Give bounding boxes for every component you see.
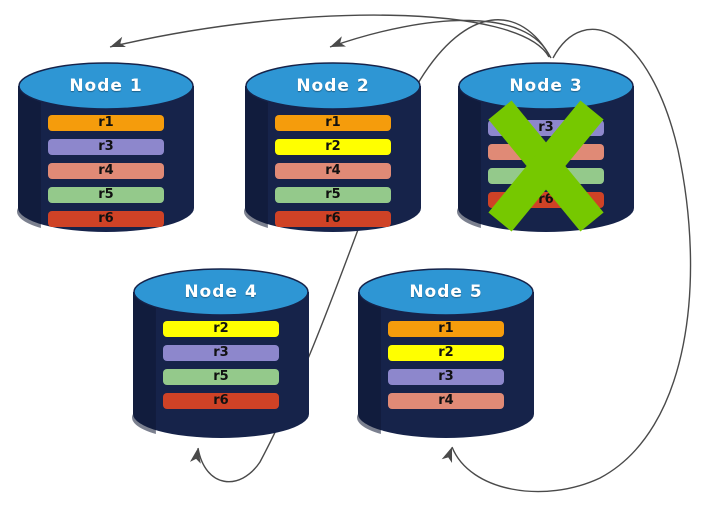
edge-path xyxy=(330,20,550,57)
node-1-replica-r3[interactable]: r3 xyxy=(48,139,164,155)
node-5[interactable]: Node 5r1r2r3r4 xyxy=(358,268,534,438)
cylinder-top xyxy=(19,63,193,109)
arrowhead-icon xyxy=(328,36,346,52)
cylinder-side-shading xyxy=(17,86,41,228)
node-2-replica-r4[interactable]: r4 xyxy=(275,163,391,179)
diagram-canvas: Node 1r1r3r4r5r6Node 2r1r2r4r5r6Node 3r3… xyxy=(0,0,708,508)
node-4[interactable]: Node 4r2r3r5r6 xyxy=(133,268,309,438)
node-1-replica-r5[interactable]: r5 xyxy=(48,187,164,203)
node-2-replica-r6[interactable]: r6 xyxy=(275,211,391,227)
node-2[interactable]: Node 2r1r2r4r5r6 xyxy=(245,62,421,232)
node-5-replica-r1[interactable]: r1 xyxy=(388,321,504,337)
node-2-replica-r1[interactable]: r1 xyxy=(275,115,391,131)
cylinder-side-shading xyxy=(357,292,381,434)
node-4-replica-r3[interactable]: r3 xyxy=(163,345,279,361)
node-1-replica-r4[interactable]: r4 xyxy=(48,163,164,179)
node-4-replica-r2[interactable]: r2 xyxy=(163,321,279,337)
cylinder-top xyxy=(359,269,533,315)
node-failure-x-icon xyxy=(458,62,634,232)
node-5-replica-r2[interactable]: r2 xyxy=(388,345,504,361)
cylinder-side-shading xyxy=(244,86,268,228)
node-4-replica-r5[interactable]: r5 xyxy=(163,369,279,385)
node-1[interactable]: Node 1r1r3r4r5r6 xyxy=(18,62,194,232)
node-5-replica-r3[interactable]: r3 xyxy=(388,369,504,385)
node-2-replica-r5[interactable]: r5 xyxy=(275,187,391,203)
node-3[interactable]: Node 3r3r4r5r6 xyxy=(458,62,634,232)
node-2-replica-r2[interactable]: r2 xyxy=(275,139,391,155)
cylinder-top xyxy=(134,269,308,315)
cylinder-top xyxy=(246,63,420,109)
edge-node3-to-node2 xyxy=(328,20,550,57)
node-4-replica-r6[interactable]: r6 xyxy=(163,393,279,409)
node-5-replica-r4[interactable]: r4 xyxy=(388,393,504,409)
node-1-replica-r1[interactable]: r1 xyxy=(48,115,164,131)
cylinder-side-shading xyxy=(132,292,156,434)
node-1-replica-r6[interactable]: r6 xyxy=(48,211,164,227)
